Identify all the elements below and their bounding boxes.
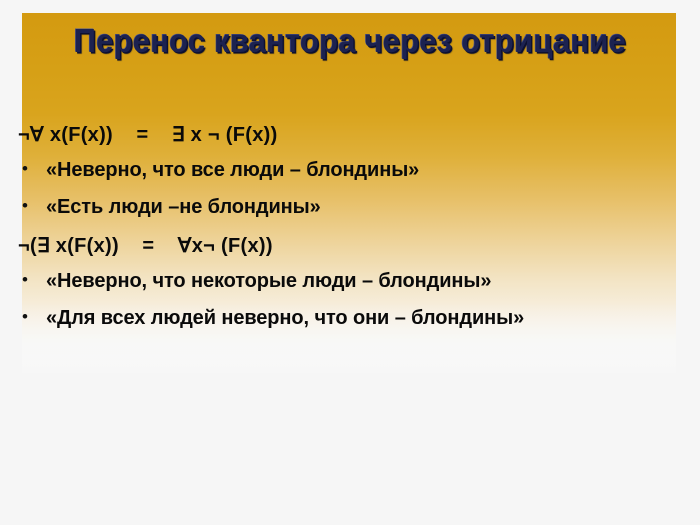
bullet-icon: •: [22, 271, 46, 288]
list-item-label: «Для всех людей неверно, что они – блонд…: [46, 307, 524, 330]
formula-line-1: ¬∀ x(F(x)) = ∃ x ¬ (F(x)): [0, 122, 654, 159]
formula-text: ¬(∃ x(F(x)) = ∀x¬ (F(x)): [18, 233, 273, 258]
list-item: • «Неверно, что все люди – блондины»: [0, 159, 654, 196]
list-item: • «Неверно, что некоторые люди – блондин…: [0, 270, 654, 307]
list-item-label: «Неверно, что все люди – блондины»: [46, 159, 419, 182]
bullet-icon: •: [22, 197, 46, 214]
formula-line-2: ¬(∃ x(F(x)) = ∀x¬ (F(x)): [0, 233, 654, 270]
slide-canvas: Перенос квантора через отрицание ¬∀ x(F(…: [0, 0, 700, 525]
list-item: • «Есть люди –не блондины»: [0, 196, 654, 233]
bullet-icon: •: [22, 308, 46, 325]
formula-text: ¬∀ x(F(x)) = ∃ x ¬ (F(x)): [18, 122, 278, 147]
page-title: Перенос квантора через отрицание: [74, 24, 626, 57]
slide-body-list: ¬∀ x(F(x)) = ∃ x ¬ (F(x)) • «Неверно, чт…: [0, 122, 654, 344]
list-item-label: «Неверно, что некоторые люди – блондины»: [46, 270, 491, 293]
list-item-label: «Есть люди –не блондины»: [46, 196, 321, 219]
bullet-icon: •: [22, 160, 46, 177]
slide-title-container: Перенос квантора через отрицание: [0, 24, 700, 57]
list-item: • «Для всех людей неверно, что они – бло…: [0, 307, 654, 344]
